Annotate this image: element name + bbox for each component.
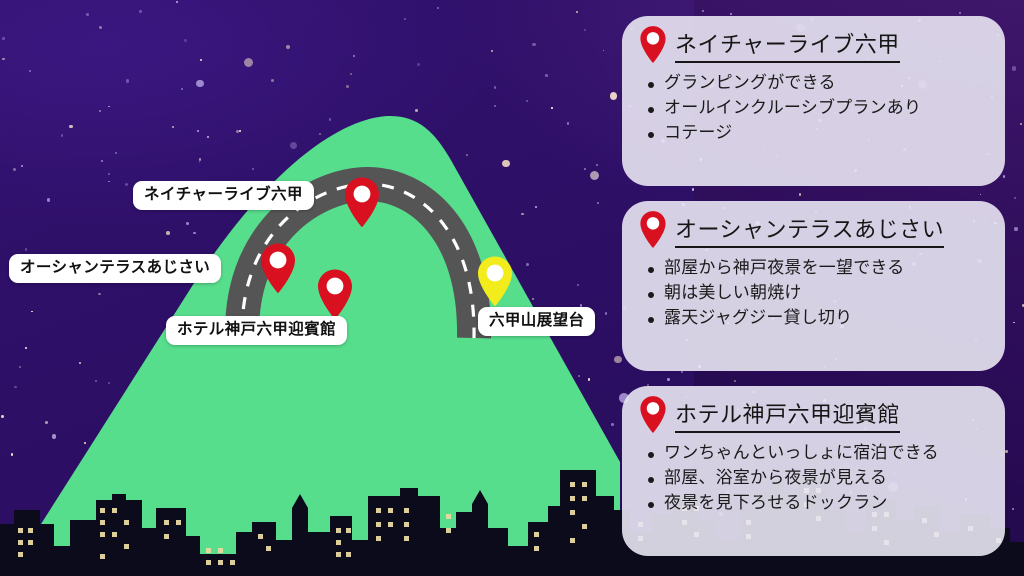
map-label-nature-live-rokko[interactable]: ネイチャーライブ六甲 (133, 181, 314, 210)
card-bullet-item: 部屋、浴室から夜景が見える (664, 466, 987, 491)
card-bullet-item: 部屋から神戸夜景を一望できる (664, 256, 987, 281)
card-bullet-item: グランピングができる (664, 71, 987, 96)
card-bullet-item: 朝は美しい朝焼け (664, 281, 987, 306)
card-bullet-item: コテージ (664, 121, 987, 146)
card-bullet-item: ワンちゃんといっしょに宿泊できる (664, 441, 987, 466)
map-pin-icon (638, 210, 668, 250)
card-bullet-list: グランピングができるオールインクルーシブプランありコテージ (638, 71, 987, 146)
map-pin-hotel-kobe-rokko-geihinkan[interactable] (315, 268, 355, 322)
card-bullet-list: ワンちゃんといっしょに宿泊できる部屋、浴室から夜景が見える夜景を見下ろせるドック… (638, 441, 987, 516)
card-header: オーシャンテラスあじさい (638, 214, 987, 250)
map-label-hotel-kobe-rokko-geihinkan[interactable]: ホテル神戸六甲迎賓館 (166, 316, 347, 345)
map-label-ocean-terrace-ajisai[interactable]: オーシャンテラスあじさい (9, 254, 221, 283)
map-pin-ocean-terrace-ajisai[interactable] (258, 242, 298, 296)
card-title: オーシャンテラスあじさい (675, 217, 944, 248)
card-title: ネイチャーライブ六甲 (675, 32, 900, 63)
map-pin-nature-live-rokko[interactable] (342, 176, 382, 230)
slide-canvas: ネイチャーライブ六甲オーシャンテラスあじさいホテル神戸六甲迎賓館六甲山展望台 ネ… (0, 0, 1024, 576)
card-bullet-list: 部屋から神戸夜景を一望できる朝は美しい朝焼け露天ジャグジー貸し切り (638, 256, 987, 331)
card-header: ネイチャーライブ六甲 (638, 29, 987, 65)
card-bullet-item: 露天ジャグジー貸し切り (664, 306, 987, 331)
map-label-rokkosan-tenboudai[interactable]: 六甲山展望台 (478, 307, 595, 336)
card-title: ホテル神戸六甲迎賓館 (675, 402, 900, 433)
map-pin-icon (638, 395, 668, 435)
card-bullet-item: オールインクルーシブプランあり (664, 96, 987, 121)
card-nature-live-rokko[interactable]: ネイチャーライブ六甲グランピングができるオールインクルーシブプランありコテージ (622, 16, 1005, 186)
card-bullet-item: 夜景を見下ろせるドックラン (664, 491, 987, 516)
map-pin-icon (638, 25, 668, 65)
card-hotel-kobe-rokko-geihinkan[interactable]: ホテル神戸六甲迎賓館ワンちゃんといっしょに宿泊できる部屋、浴室から夜景が見える夜… (622, 386, 1005, 556)
map-pin-rokkosan-tenboudai[interactable] (475, 255, 515, 309)
card-ocean-terrace-ajisai[interactable]: オーシャンテラスあじさい部屋から神戸夜景を一望できる朝は美しい朝焼け露天ジャグジ… (622, 201, 1005, 371)
card-header: ホテル神戸六甲迎賓館 (638, 399, 987, 435)
